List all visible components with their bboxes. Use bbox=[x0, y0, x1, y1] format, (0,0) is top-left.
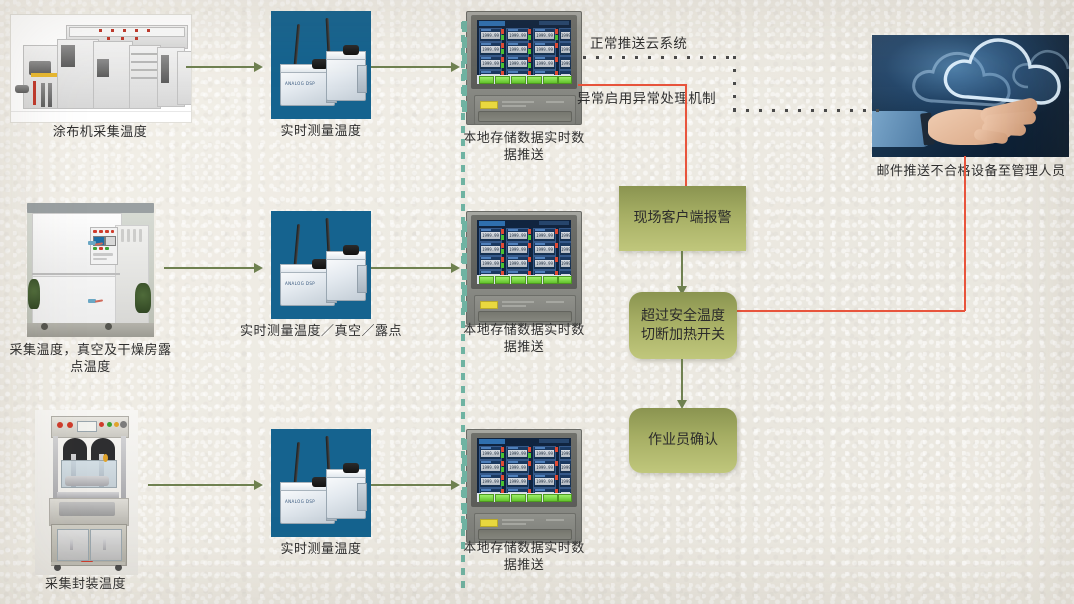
hmi-screen-button[interactable] bbox=[479, 494, 494, 502]
hmi-screen-button[interactable] bbox=[495, 76, 510, 84]
hmi-label-tag bbox=[480, 519, 498, 527]
sealing-machine-photo bbox=[35, 410, 138, 575]
dotted-connector-to-cloud-vertical bbox=[733, 56, 736, 112]
hmi-value-readout: 1999.99 bbox=[481, 46, 500, 53]
process-box-cut-heater[interactable]: 超过安全温度 切断加热开关 bbox=[629, 292, 737, 359]
hmi-value-readout: 1999.99 bbox=[561, 32, 570, 39]
hmi-value-readout: 1999.99 bbox=[561, 260, 570, 267]
hmi-value-readout: 1999.99 bbox=[535, 478, 554, 485]
row-oven-source-caption: 采集温度，真空及干燥房露点温度 bbox=[8, 342, 173, 376]
row-oven-source-caption-text: 采集温度，真空及干燥房露点温度 bbox=[9, 343, 171, 375]
hmi-value-readout: 1999.99 bbox=[535, 246, 554, 253]
hmi-value-readout: 1999.99 bbox=[535, 260, 554, 267]
hmi-value-readout: 1999.99 bbox=[561, 232, 570, 239]
hmi-screen-button[interactable] bbox=[527, 494, 542, 502]
row-coater-sensor-caption: 实时测量温度 bbox=[261, 123, 381, 140]
row-oven-sensor-caption: 实时测量温度／真空／露点 bbox=[231, 323, 411, 340]
arrow-sensor-to-terminal-3 bbox=[371, 484, 453, 486]
hmi-value-readout: 1999.99 bbox=[561, 246, 570, 253]
row-coater-sensor-photo: ANALOG DSP bbox=[271, 11, 371, 119]
arrow-oven-to-sensor bbox=[164, 267, 254, 269]
alert-line-to-cloud-horizontal bbox=[733, 310, 965, 312]
hmi-screen-button[interactable] bbox=[495, 494, 510, 502]
hmi-label-tag bbox=[480, 101, 498, 109]
hmi-value-readout: 1999.99 bbox=[481, 32, 500, 39]
coating-machine-photo bbox=[10, 14, 192, 123]
row-oven-sensor-photo: ANALOG DSP bbox=[271, 211, 371, 319]
hmi-value-readout: 1999.99 bbox=[561, 450, 570, 457]
row-coater-hmi-terminal: 1999.99 1999.99 1999.99 1999.99 1999.99 … bbox=[466, 11, 582, 125]
dotted-connector-to-cloud-bottom bbox=[733, 109, 888, 112]
dotted-connector-to-cloud-top bbox=[583, 56, 735, 59]
arrow-sensor-to-terminal-2-head bbox=[451, 263, 460, 273]
arrow-coater-to-sensor-head bbox=[254, 62, 263, 72]
process-box-operator-confirm-label: 作业员确认 bbox=[648, 431, 718, 450]
drying-oven-photo bbox=[27, 203, 154, 337]
hmi-value-readout: 1999.99 bbox=[508, 232, 527, 239]
hmi-value-readout: 1999.99 bbox=[481, 478, 500, 485]
hmi-value-readout: 1999.99 bbox=[508, 260, 527, 267]
hmi-value-readout: 1999.99 bbox=[481, 464, 500, 471]
hmi-value-readout: 1999.99 bbox=[535, 32, 554, 39]
hmi-screen-button[interactable] bbox=[527, 276, 542, 284]
hmi-value-readout: 1999.99 bbox=[481, 260, 500, 267]
hmi-value-readout: 1999.99 bbox=[508, 464, 527, 471]
hmi-value-readout: 1999.99 bbox=[508, 246, 527, 253]
terminal-group-dashed-line bbox=[461, 22, 465, 592]
flow-line-cutheater-to-confirm bbox=[681, 359, 683, 404]
flow-line-alarm-to-cutheater bbox=[681, 251, 683, 289]
hmi-screen-button[interactable] bbox=[543, 76, 558, 84]
row-sealer-sensor-caption: 实时测量温度 bbox=[261, 541, 381, 558]
hmi-value-readout: 1999.99 bbox=[561, 464, 570, 471]
hmi-value-readout: 1999.99 bbox=[508, 450, 527, 457]
alert-line-to-cloud-vertical bbox=[964, 156, 966, 311]
alert-line-down-to-alarm bbox=[685, 84, 687, 186]
hmi-screen-button[interactable] bbox=[511, 276, 526, 284]
diagram-canvas: 涂布机采集温度 ANALOG DSP 实时测量温度 1999.99 1 bbox=[0, 0, 1074, 604]
hmi-value-readout: 1999.99 bbox=[561, 60, 570, 67]
cloud-in-hand-photo bbox=[872, 35, 1069, 157]
hmi-screen-button[interactable] bbox=[511, 494, 526, 502]
arrow-sensor-to-terminal-1 bbox=[371, 66, 453, 68]
hmi-screen-button[interactable] bbox=[558, 494, 572, 502]
hmi-screen-button[interactable] bbox=[543, 494, 558, 502]
hmi-screen-button[interactable] bbox=[527, 76, 542, 84]
arrow-sealer-to-sensor-head bbox=[254, 480, 263, 490]
row-sealer-source-caption: 采集封装温度 bbox=[3, 576, 168, 593]
hmi-value-readout: 1999.99 bbox=[508, 32, 527, 39]
arrow-coater-to-sensor bbox=[186, 66, 254, 68]
hmi-value-readout: 1999.99 bbox=[561, 46, 570, 53]
hmi-value-readout: 1999.99 bbox=[561, 478, 570, 485]
arrow-oven-to-sensor-head bbox=[254, 263, 263, 273]
hmi-value-readout: 1999.99 bbox=[508, 478, 527, 485]
hmi-value-readout: 1999.99 bbox=[508, 60, 527, 67]
process-box-client-alarm[interactable]: 现场客户端报警 bbox=[619, 186, 746, 251]
row-oven-hmi-terminal: 1999.99 1999.99 1999.99 1999.99 1999.99 … bbox=[466, 211, 582, 325]
hmi-screen-button[interactable] bbox=[543, 276, 558, 284]
hmi-value-readout: 1999.99 bbox=[535, 60, 554, 67]
row-coater-terminal-caption: 本地存储数据实时数据推送 bbox=[462, 130, 586, 164]
hmi-value-readout: 1999.99 bbox=[535, 450, 554, 457]
hmi-screen-button[interactable] bbox=[479, 76, 494, 84]
row-sealer-sensor-photo: ANALOG DSP bbox=[271, 429, 371, 537]
alert-line-top bbox=[578, 84, 686, 86]
arrow-sealer-to-sensor bbox=[148, 484, 254, 486]
row-sealer-hmi-terminal: 1999.99 1999.99 1999.99 1999.99 1999.99 … bbox=[466, 429, 582, 543]
process-box-cut-heater-label-line2: 切断加热开关 bbox=[641, 326, 725, 345]
hmi-value-readout: 1999.99 bbox=[535, 464, 554, 471]
hmi-value-readout: 1999.99 bbox=[481, 232, 500, 239]
normal-push-label: 正常推送云系统 bbox=[590, 32, 687, 52]
row-oven-terminal-caption: 本地存储数据实时数据推送 bbox=[462, 322, 586, 356]
hmi-value-readout: 1999.99 bbox=[481, 246, 500, 253]
process-box-operator-confirm[interactable]: 作业员确认 bbox=[629, 408, 737, 473]
hmi-screen-button[interactable] bbox=[558, 76, 572, 84]
arrow-sensor-to-terminal-2 bbox=[371, 267, 453, 269]
hmi-value-readout: 1999.99 bbox=[535, 46, 554, 53]
hmi-label-tag bbox=[480, 301, 498, 309]
row-sealer-terminal-caption: 本地存储数据实时数据推送 bbox=[462, 540, 586, 574]
arrow-sensor-to-terminal-3-head bbox=[451, 480, 460, 490]
row-coater-source-caption: 涂布机采集温度 bbox=[0, 124, 200, 141]
process-box-cut-heater-label-line1: 超过安全温度 bbox=[641, 307, 725, 326]
process-box-client-alarm-label: 现场客户端报警 bbox=[634, 209, 732, 228]
hmi-value-readout: 1999.99 bbox=[481, 60, 500, 67]
hmi-screen-button[interactable] bbox=[511, 76, 526, 84]
abnormal-label: 异常启用异常处理机制 bbox=[577, 87, 716, 107]
hmi-screen-button[interactable] bbox=[558, 276, 572, 284]
hmi-screen-button[interactable] bbox=[495, 276, 510, 284]
hmi-screen-button[interactable] bbox=[479, 276, 494, 284]
hmi-value-readout: 1999.99 bbox=[508, 46, 527, 53]
hmi-value-readout: 1999.99 bbox=[535, 232, 554, 239]
hmi-value-readout: 1999.99 bbox=[481, 450, 500, 457]
arrow-sensor-to-terminal-1-head bbox=[451, 62, 460, 72]
